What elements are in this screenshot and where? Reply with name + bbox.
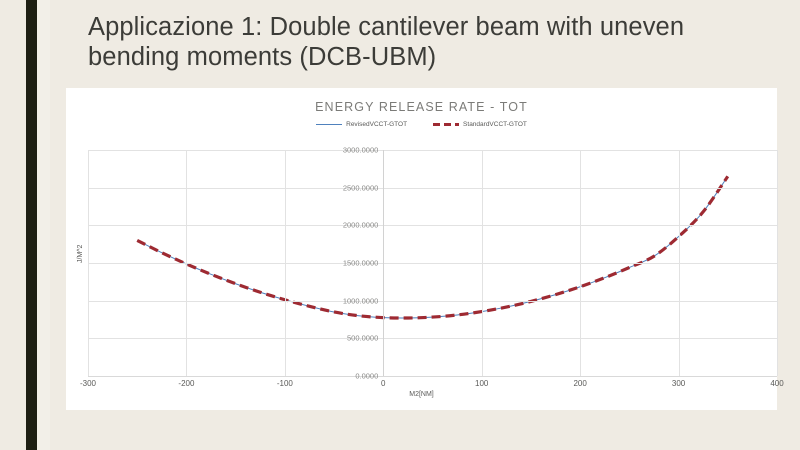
slide-accent-stripe — [26, 0, 37, 450]
slide-left-margin — [0, 0, 26, 450]
x-axis-tick-label: 400 — [770, 379, 783, 388]
x-axis-tick-label: -200 — [178, 379, 194, 388]
x-axis-tick-label: 200 — [573, 379, 586, 388]
x-axis-tick-label: -100 — [277, 379, 293, 388]
y-axis-tick-label: 1000.0000 — [66, 296, 378, 305]
slide-title: Applicazione 1: Double cantilever beam w… — [88, 12, 728, 72]
x-axis-title: M2[NM] — [66, 391, 777, 398]
x-axis-tick-label: 300 — [672, 379, 685, 388]
gridline-vertical — [679, 150, 680, 376]
plot-wrapper: J/M^2 M2[NM] 0.0000500.00001000.00001500… — [66, 88, 777, 410]
gridline-vertical — [383, 150, 384, 376]
y-axis-tick-label: 1500.0000 — [66, 259, 378, 268]
y-axis-tick-label: 2000.0000 — [66, 221, 378, 230]
chart-panel: ENERGY RELEASE RATE - TOT RevisedVCCT-GT… — [66, 88, 777, 410]
x-axis-tick-label: 100 — [475, 379, 488, 388]
presentation-slide: Applicazione 1: Double cantilever beam w… — [0, 0, 800, 450]
y-axis-tick-label: 2500.0000 — [66, 183, 378, 192]
gridline-vertical — [482, 150, 483, 376]
gridline-vertical — [580, 150, 581, 376]
x-axis-tick-label: 0 — [381, 379, 385, 388]
y-axis-tick-label: 0.0000 — [66, 372, 378, 381]
y-axis-tick-label: 3000.0000 — [66, 146, 378, 155]
gridline-vertical — [777, 150, 778, 376]
slide-inner-margin — [37, 0, 50, 450]
x-axis-tick-label: -300 — [80, 379, 96, 388]
y-axis-tick-label: 500.0000 — [66, 334, 378, 343]
